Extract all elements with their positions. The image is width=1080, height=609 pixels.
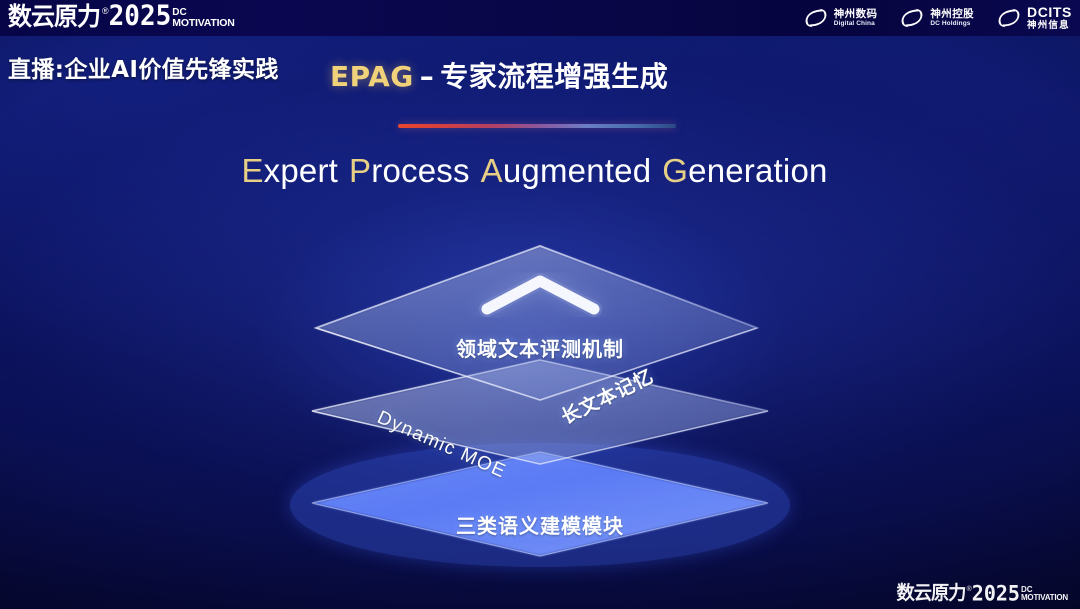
brand-year: 2025 [109, 2, 172, 29]
footer-brand-motivation: MOTIVATION [1021, 594, 1068, 602]
swoosh-icon [996, 6, 1022, 30]
brand-registered-mark: ® [102, 7, 109, 29]
swoosh-icon [899, 6, 925, 30]
subtitle-word-expert: Expert [241, 152, 338, 189]
partner-name-cn: 神州数码 [834, 9, 878, 21]
subtitle-english: ExpertProcessAugmentedGeneration [0, 152, 1080, 190]
gradient-divider [398, 124, 676, 128]
partner-name-cn: DCITS [1027, 5, 1072, 21]
title-dash: – [414, 60, 441, 93]
brand-logo: 数云原力 ® 2025 DC MOTIVATION [6, 3, 235, 29]
footer-brand-year: 2025 [972, 583, 1020, 604]
subtitle-word-generation: Generation [662, 152, 827, 189]
title-chinese: 专家流程增强生成 [440, 60, 668, 93]
partner-logo-digital-china: 神州数码 Digital China [803, 6, 878, 30]
subtitle-word-augmented: Augmented [481, 152, 652, 189]
partner-name-cn: 神州控股 [930, 9, 974, 21]
partner-logo-dcits: DCITS 神州信息 [996, 5, 1072, 31]
layer-top-label: 领域文本评测机制 [0, 333, 1080, 362]
partner-name-en: DC Holdings [930, 20, 974, 27]
title-acronym: EPAG [330, 60, 414, 93]
layer-top-plate [316, 246, 757, 400]
swoosh-icon [803, 6, 829, 30]
subtitle-word-process: Process [349, 152, 470, 189]
page-title: EPAG–专家流程增强生成 [330, 55, 668, 95]
layer-bottom-label: 三类语义建模模块 [0, 510, 1080, 539]
slide-stage: 领域文本评测机制 Dynamic MOE 长文本记忆 三类语义建模模块 EPAG… [0, 0, 1080, 609]
partner-logo-row: 神州数码 Digital China 神州控股 DC Holdings [803, 5, 1072, 31]
footer-brand-name-cn: 数云原力 [896, 584, 965, 603]
partner-logo-dc-holdings: 神州控股 DC Holdings [899, 6, 974, 30]
partner-name-en: Digital China [834, 20, 878, 27]
footer-watermark-logo: 数云原力 ® 2025 DC MOTIVATION [895, 583, 1068, 603]
brand-dc-motivation: DC MOTIVATION [172, 8, 234, 30]
footer-brand-dc-motivation: DC MOTIVATION [1021, 586, 1068, 603]
header-bar: 数云原力 ® 2025 DC MOTIVATION 神州数码 Digital C… [0, 0, 1080, 36]
live-broadcast-title: 直播:企业AI价值先锋实践 [8, 50, 279, 84]
brand-name-cn: 数云原力 [8, 4, 100, 29]
partner-name-en: 神州信息 [1027, 21, 1072, 32]
brand-dc: DC [172, 8, 234, 18]
brand-motivation: MOTIVATION [172, 18, 234, 29]
